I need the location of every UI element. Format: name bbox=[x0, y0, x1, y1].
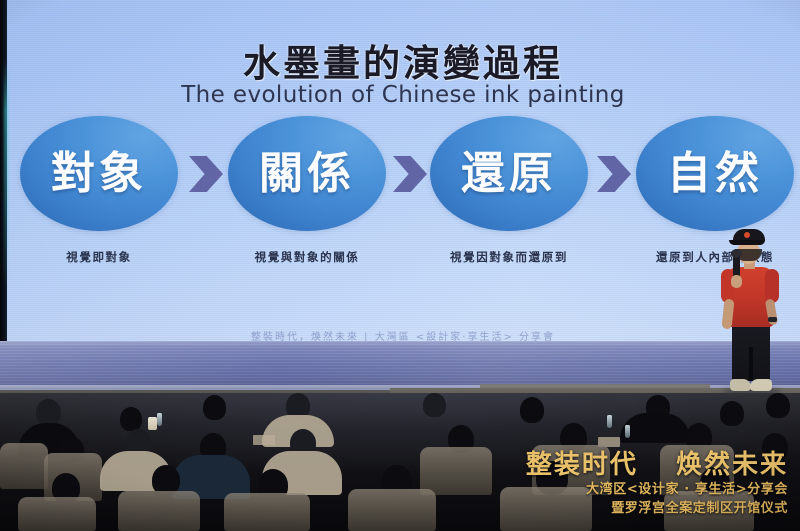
audience-head bbox=[36, 399, 61, 426]
audience-head bbox=[203, 395, 226, 420]
flow-caption-3: 視覺因對象而還原到 bbox=[418, 249, 600, 265]
event-subline-2: 暨罗浮宫全案定制区开馆仪式 bbox=[526, 500, 788, 519]
event-title-overlay: 整装时代 焕然未来 大湾区<设计家 · 享生活>分享会 暨罗浮宫全案定制区开馆仪… bbox=[526, 451, 788, 519]
phone-screen bbox=[148, 417, 157, 430]
flow-caption-1: 視覺即對象 bbox=[8, 249, 190, 265]
desk-placard bbox=[253, 435, 275, 445]
audience-head bbox=[766, 393, 790, 418]
speaker-figure bbox=[713, 229, 787, 395]
audience-head bbox=[720, 401, 744, 426]
presentation-slide: 水墨畫的演變過程 The evolution of Chinese ink pa… bbox=[6, 0, 800, 343]
projection-screen: 水墨畫的演變過程 The evolution of Chinese ink pa… bbox=[6, 0, 800, 343]
audience-seat bbox=[348, 489, 436, 531]
flow-bubble-label-1: 對象 bbox=[51, 152, 147, 196]
event-headline: 整装时代 焕然未来 bbox=[526, 451, 788, 481]
flow-bubble-4: 自然 bbox=[636, 116, 794, 231]
process-flow-diagram: 對象 視覺即對象 關係 視覺與對象的關係 還原 視覺因對象而還原到 bbox=[6, 116, 800, 281]
audience-seat bbox=[118, 491, 200, 531]
microphone-head bbox=[731, 249, 742, 258]
audience-head bbox=[120, 407, 142, 431]
audience-seat bbox=[224, 493, 310, 531]
water-bottle bbox=[607, 415, 612, 428]
audience-shoulders bbox=[620, 413, 690, 443]
event-headline-part2: 焕然未来 bbox=[676, 450, 788, 480]
conference-stage-photo: 水墨畫的演變過程 The evolution of Chinese ink pa… bbox=[0, 0, 800, 531]
flow-bubble-3: 還原 bbox=[430, 116, 588, 231]
flow-bubble-1: 對象 bbox=[20, 116, 178, 231]
speaker-cap-brim bbox=[729, 240, 765, 245]
speaker-shoe-right bbox=[750, 379, 772, 391]
flow-node-4: 自然 還原到人內部的狀態 bbox=[636, 116, 794, 231]
speaker-cap-logo bbox=[744, 232, 750, 238]
slide-title: 水墨畫的演變過程 bbox=[6, 33, 800, 87]
flow-caption-2: 視覺與對象的關係 bbox=[216, 249, 398, 265]
audience-seat bbox=[0, 443, 48, 489]
flow-bubble-label-4: 自然 bbox=[667, 152, 763, 196]
audience-head bbox=[423, 393, 446, 417]
water-bottle bbox=[625, 425, 630, 438]
flow-bubble-label-3: 還原 bbox=[461, 152, 557, 196]
audience-head bbox=[520, 397, 544, 423]
flow-bubble-label-2: 關係 bbox=[259, 152, 355, 196]
event-subline-1: 大湾区<设计家 · 享生活>分享会 bbox=[526, 481, 788, 500]
flow-node-2: 關係 視覺與對象的關係 bbox=[228, 116, 386, 231]
speaker-hand bbox=[731, 275, 742, 288]
flow-node-1: 對象 視覺即對象 bbox=[20, 116, 178, 231]
speaker-sleeve-right bbox=[765, 269, 779, 303]
audience-seat bbox=[420, 447, 492, 495]
flow-bubble-2: 關係 bbox=[228, 116, 386, 231]
chevron-right-icon-3 bbox=[597, 156, 631, 192]
water-bottle bbox=[157, 413, 162, 426]
audience-seat bbox=[18, 497, 96, 531]
chevron-right-icon-1 bbox=[189, 156, 223, 192]
slide-subtitle: The evolution of Chinese ink painting bbox=[6, 82, 800, 108]
flow-node-3: 還原 視覺因對象而還原到 bbox=[430, 116, 588, 231]
speaker-wristwatch bbox=[768, 317, 777, 322]
speaker-leg-gap bbox=[749, 347, 753, 381]
chevron-right-icon-2 bbox=[393, 156, 427, 192]
speaker-shoe-left bbox=[730, 379, 751, 391]
event-headline-part1: 整装时代 bbox=[526, 450, 638, 480]
